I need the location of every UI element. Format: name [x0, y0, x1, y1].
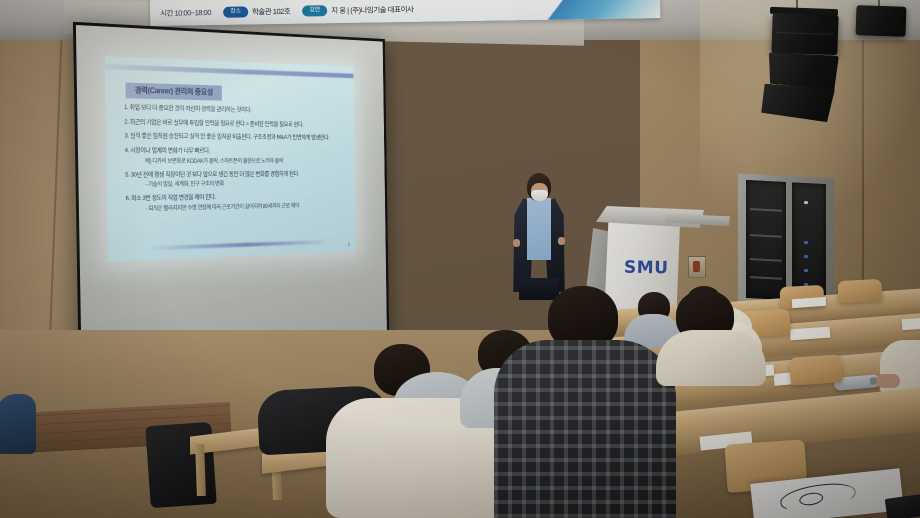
student-torso: [0, 394, 36, 454]
ceiling-speaker-far-right: [855, 5, 906, 37]
student-torso-plaid: [494, 340, 676, 518]
bullet-4-text: 4. 시장이나 업계의 변화가 너무 빠르다.: [125, 147, 210, 154]
bullet-1-text: 1. 취업 보다 더 중요한 것이 자신의 경력을 관리하는 것이다.: [124, 104, 251, 113]
banner-place-item: 장소 학술관 102호: [223, 5, 290, 17]
banner-graphic: [520, 0, 661, 20]
slide-bullet-5: 5. 30년 전에 평생 직장이던 것 보다 앞으로 생긴 동안 더 많은 변화…: [125, 170, 347, 189]
notebook-doodle-icon: [779, 479, 858, 515]
rack-door-right[interactable]: [792, 182, 826, 302]
lecture-hall-photo: 시간 10:00~18:00 장소 학술관 102호 강연 지 웅 | (주)나…: [0, 0, 920, 518]
bullet-6-sub: - 퇴직은 빨라지지만 수명 연장에 따라 근로기간이 길어지며 80세까지 근…: [146, 202, 348, 214]
slide-title: 경력(Career) 관리의 중요성: [126, 83, 222, 101]
bullet-4-sub: 예) 디카의 보편화로 KODAK가 몰락, 스마트폰의 출현으로 노키아 몰락: [145, 158, 347, 166]
banner-place-text: 학술관 102호: [252, 5, 290, 17]
speaker-chip: 강연: [302, 5, 327, 16]
chair-far-2[interactable]: [837, 279, 882, 303]
desk-leg-1: [195, 444, 206, 496]
slide-footer-bar: [146, 240, 324, 250]
slide-page-number: 5: [348, 243, 350, 248]
banner-speaker-text: 지 웅 | (주)나임기술 대표이사: [331, 3, 413, 15]
slide-bullet-6: 6. 최소 3번 정도의 직업 변경을 해야 한다. - 퇴직은 빨라지지만 수…: [126, 192, 348, 214]
slide-bullet-3: 3. 실적 좋은 임직원 승진되고 실적 안 좋은 임직원 퇴출된다. 구조조정…: [124, 133, 346, 143]
bullet-6-text: 6. 최소 3번 정도의 직업 변경을 해야 한다.: [126, 194, 216, 202]
ceiling-speaker-right-mid: [767, 52, 839, 90]
presentation-slide: 경력(Career) 관리의 중요성 1. 취업 보다 더 중요한 것이 자신의…: [105, 56, 356, 261]
bullet-5-text: 5. 30년 전에 평생 직장이던 것 보다 앞으로 생긴 동안 더 많은 변화…: [125, 171, 299, 179]
paper-a-2: [902, 317, 920, 330]
smu-logo: SMU: [624, 258, 669, 279]
presenter-hand-left: [513, 239, 520, 247]
face-mask-icon: [531, 190, 548, 201]
rack-door-left[interactable]: [746, 180, 786, 300]
slide-body: 1. 취업 보다 더 중요한 것이 자신의 경력을 관리하는 것이다. 2. 최…: [124, 104, 348, 220]
ceiling-speaker-right-top: [771, 13, 838, 55]
banner-info-row: 시간 10:00~18:00 장소 학술관 102호 강연 지 웅 | (주)나…: [160, 0, 413, 22]
slide-bullet-1: 1. 취업 보다 더 중요한 것이 자신의 경력을 관리하는 것이다.: [124, 104, 346, 117]
bullet-5-sub: - 기술의 발달, 세계화, 인구 구조의 변화: [145, 180, 347, 190]
student-hand: [876, 374, 900, 388]
banner-time-text: 시간 10:00~18:00: [160, 7, 211, 19]
student-torso: [656, 330, 766, 386]
chair-b-1[interactable]: [789, 354, 843, 386]
bullet-2-text: 2. 최근의 기업은 바로 실무에 투입할 인력을 필요로 한다 = 준비된 인…: [124, 118, 303, 127]
presenter-trousers: [519, 278, 559, 300]
presenter-hand-right: [558, 237, 565, 245]
banner-speaker-item: 강연 지 웅 | (주)나임기술 대표이사: [302, 3, 413, 16]
fire-extinguisher-box[interactable]: [688, 256, 706, 278]
presenter-shirt: [527, 198, 551, 260]
slide-bullet-2: 2. 최근의 기업은 바로 실무에 투입할 인력을 필요로 한다 = 준비된 인…: [124, 118, 346, 129]
bullet-3-text: 3. 실적 좋은 임직원 승진되고 실적 안 좋은 임직원 퇴출된다. 구조조정…: [124, 133, 329, 142]
slide-bullet-4: 4. 시장이나 업계의 변화가 너무 빠르다. 예) 디카의 보편화로 KODA…: [125, 147, 347, 165]
place-chip: 장소: [223, 6, 248, 17]
slide-header-bar: [105, 64, 354, 78]
